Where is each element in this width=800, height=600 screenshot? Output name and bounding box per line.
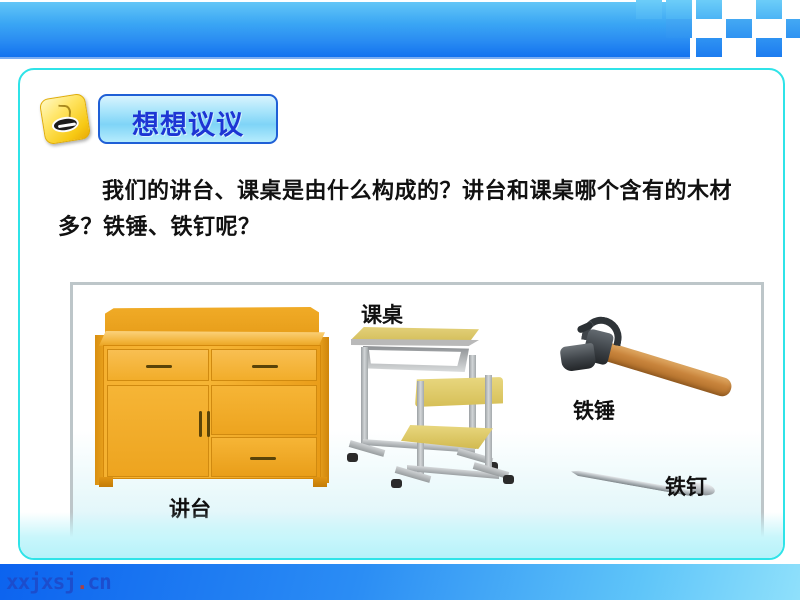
watermark-dot: . bbox=[76, 570, 88, 594]
lectern-photo bbox=[91, 307, 331, 489]
label-nail: 铁钉 bbox=[665, 471, 707, 501]
watermark-suffix: cn bbox=[88, 570, 111, 594]
sticky-note-idea-icon bbox=[39, 93, 92, 146]
watermark: xxjxsj.cn bbox=[6, 570, 111, 594]
header-checker-pattern bbox=[636, 0, 800, 58]
label-hammer: 铁锤 bbox=[573, 395, 615, 425]
picture-frame: 讲台 课桌 bbox=[70, 282, 764, 548]
watermark-prefix: xxjxsj bbox=[6, 570, 76, 594]
question-text: 我们的讲台、课桌是由什么构成的？讲台和课桌哪个含有的木材多？铁锤、铁钉呢？ bbox=[58, 174, 758, 245]
hammer-photo bbox=[543, 297, 743, 407]
title-text: 想想议议 bbox=[100, 103, 276, 142]
title-plate: 想想议议 bbox=[98, 94, 278, 144]
header-bar bbox=[0, 2, 690, 57]
picture-canvas: 讲台 课桌 bbox=[73, 285, 761, 545]
footer-bar: xxjxsj.cn bbox=[0, 564, 800, 600]
slide-root: 想想议议 我们的讲台、课桌是由什么构成的？讲台和课桌哪个含有的木材多？铁锤、铁钉… bbox=[0, 0, 800, 600]
panel-bottom-fade bbox=[20, 512, 783, 558]
content-panel: 想想议议 我们的讲台、课桌是由什么构成的？讲台和课桌哪个含有的木材多？铁锤、铁钉… bbox=[18, 68, 785, 560]
school-desk-photo bbox=[345, 319, 521, 519]
